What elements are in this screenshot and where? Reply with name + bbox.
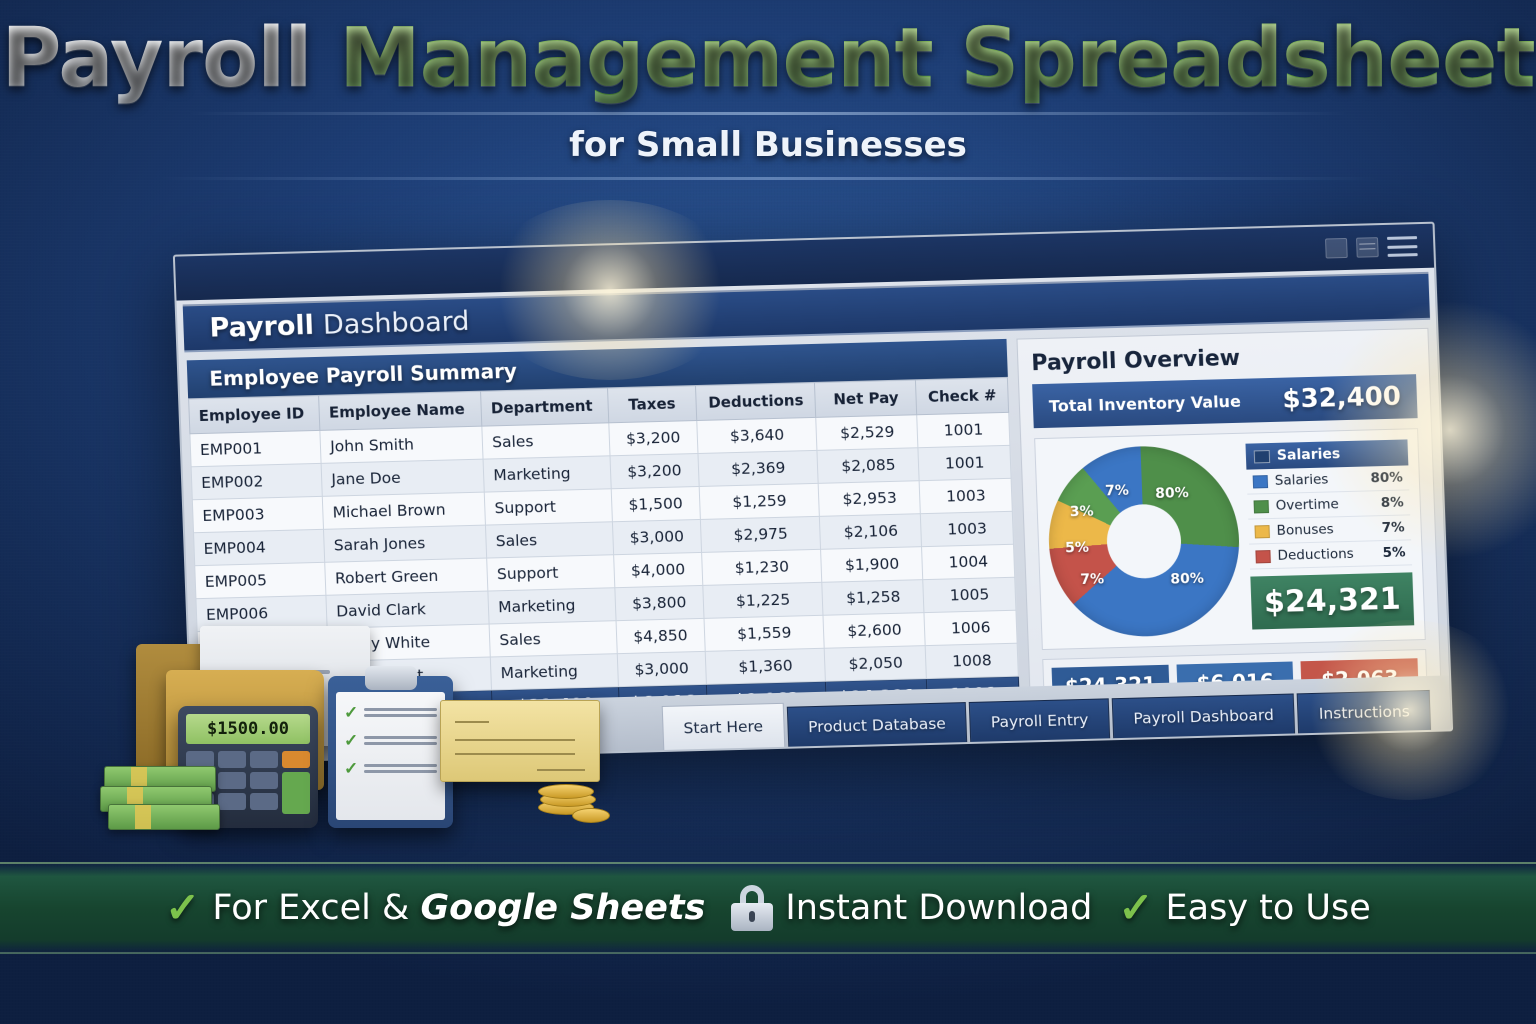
slice-label-3: 5% (1065, 540, 1089, 557)
column-header-0[interactable]: Employee ID (189, 395, 320, 433)
cell-r3-c5[interactable]: $2,106 (820, 514, 922, 550)
cell-r2-c3[interactable]: $1,500 (611, 486, 701, 521)
cell-r1-c6[interactable]: 1001 (918, 445, 1011, 480)
legend-row-deductions: Deductions5% (1249, 540, 1412, 569)
cell-r0-c4[interactable]: $3,640 (697, 417, 818, 453)
coin-stack (538, 770, 628, 826)
cell-r7-c6[interactable]: 1008 (926, 643, 1019, 678)
tab-product-database[interactable]: Product Database (786, 702, 967, 747)
cell-r0-c3[interactable]: $3,200 (608, 421, 698, 456)
page-header: Payroll Management Spreadsheet for Small… (0, 18, 1536, 180)
feature-2-text: Instant Download (785, 888, 1092, 928)
dashboard-title-light: Dashboard (322, 305, 470, 340)
cash-stack (100, 766, 230, 828)
cell-r6-c3[interactable]: $4,850 (616, 618, 706, 653)
dashboard-title-bold: Payroll (209, 310, 315, 344)
donut-graphic: 80% 80% 7% 5% 3% 7% (1046, 444, 1243, 639)
legend-swatch (1254, 500, 1269, 513)
tab-payroll-dashboard[interactable]: Payroll Dashboard (1112, 693, 1296, 738)
payroll-donut-chart: 80% 80% 7% 5% 3% 7% Salaries Salaries80%… (1034, 428, 1426, 650)
cell-r0-c0[interactable]: EMP001 (190, 430, 321, 466)
overview-title: Payroll Overview (1031, 341, 1416, 376)
total-inventory-value-kpi: Total Inventory Value $32,400 (1032, 374, 1418, 428)
cell-r4-c1[interactable]: Robert Green (325, 558, 488, 595)
cell-r0-c5[interactable]: $2,529 (816, 415, 918, 451)
cell-r4-c6[interactable]: 1004 (922, 544, 1015, 579)
legend-label: Bonuses (1276, 520, 1375, 539)
legend-label: Salaries (1275, 471, 1364, 489)
cell-r2-c5[interactable]: $2,953 (819, 481, 921, 517)
chart-legend: Salaries Salaries80%Overtime8%Bonuses7%D… (1245, 439, 1414, 633)
cell-r4-c5[interactable]: $1,900 (821, 547, 923, 583)
cell-r4-c4[interactable]: $1,230 (702, 549, 823, 585)
kpi-label: Total Inventory Value (1049, 391, 1242, 415)
feature-excel-google-sheets: ✓ For Excel & Google Sheets (165, 887, 705, 929)
cell-r4-c2[interactable]: Support (487, 555, 614, 591)
cell-r2-c1[interactable]: Michael Brown (322, 492, 485, 529)
cell-r4-c3[interactable]: $4,000 (613, 552, 703, 587)
cell-r3-c4[interactable]: $2,975 (700, 516, 821, 552)
legend-label: Overtime (1275, 495, 1374, 514)
cell-r2-c2[interactable]: Support (484, 489, 611, 525)
feature-banner: ✓ For Excel & Google Sheets Instant Down… (0, 862, 1536, 954)
subtitle-divider (158, 177, 1378, 180)
clipboard-checklist: ✓ ✓ ✓ (328, 676, 453, 828)
legend-header-label: Salaries (1277, 446, 1341, 464)
feature-1-prefix: For Excel & (212, 888, 420, 928)
office-supplies-illustration: $1500.00 ✓ ✓ ✓ (100, 618, 620, 848)
cell-r7-c5[interactable]: $2,050 (825, 646, 927, 682)
title-word-management-spreadsheet: Management Spreadsheet (339, 11, 1535, 106)
slice-label-0: 80% (1155, 485, 1189, 502)
clipboard-clamp (365, 666, 417, 690)
check-icon: ✓ (1118, 887, 1153, 929)
cell-r4-c0[interactable]: EMP005 (195, 562, 326, 598)
legend-percent: 80% (1370, 470, 1403, 487)
feature-instant-download: Instant Download (731, 885, 1092, 931)
cell-r7-c3[interactable]: $3,000 (617, 651, 707, 686)
cell-r2-c6[interactable]: 1003 (919, 478, 1012, 513)
cell-r5-c4[interactable]: $1,225 (703, 582, 824, 618)
feature-3-text: Easy to Use (1166, 888, 1371, 928)
check-icon: ✓ (344, 732, 358, 749)
cell-r0-c2[interactable]: Sales (482, 423, 609, 459)
cell-r3-c1[interactable]: Sarah Jones (324, 525, 487, 562)
cell-r1-c4[interactable]: $2,369 (698, 450, 819, 486)
column-header-5[interactable]: Net Pay (815, 380, 917, 418)
legend-percent: 8% (1381, 495, 1405, 512)
cell-r1-c0[interactable]: EMP002 (191, 463, 322, 499)
check-icon: ✓ (344, 760, 358, 777)
cell-r0-c1[interactable]: John Smith (320, 426, 483, 463)
cell-r5-c3[interactable]: $3,800 (614, 585, 704, 620)
legend-swatch (1254, 525, 1269, 538)
tab-start-here[interactable]: Start Here (662, 703, 785, 750)
cell-r1-c5[interactable]: $2,085 (817, 448, 919, 484)
legend-percent: 7% (1381, 520, 1405, 537)
cell-r6-c5[interactable]: $2,600 (823, 613, 925, 649)
feature-1-text: For Excel & Google Sheets (212, 888, 705, 928)
cell-r5-c6[interactable]: 1005 (923, 577, 1016, 612)
cell-r2-c0[interactable]: EMP003 (192, 496, 323, 532)
check-icon: ✓ (344, 704, 358, 721)
page-subtitle: for Small Businesses (0, 125, 1536, 165)
cell-r6-c6[interactable]: 1006 (924, 610, 1017, 645)
feature-1-bold: Google Sheets (420, 888, 705, 928)
legend-percent: 5% (1382, 545, 1406, 562)
slice-label-2: 7% (1080, 571, 1104, 588)
page-title: Payroll Management Spreadsheet (0, 18, 1536, 100)
cell-r1-c2[interactable]: Marketing (483, 456, 610, 492)
tab-instructions[interactable]: Instructions (1297, 690, 1431, 733)
chart-document-icon[interactable] (1325, 238, 1348, 259)
slice-label-5: 7% (1105, 483, 1129, 500)
cell-r6-c4[interactable]: $1,559 (704, 615, 825, 651)
slice-label-1: 80% (1170, 571, 1204, 588)
check-icon: ✓ (165, 887, 200, 929)
tab-payroll-entry[interactable]: Payroll Entry (969, 698, 1110, 742)
cell-r1-c1[interactable]: Jane Doe (321, 459, 484, 496)
payroll-overview-panel: Payroll Overview Total Inventory Value $… (1016, 328, 1442, 723)
cell-r3-c0[interactable]: EMP004 (194, 529, 325, 565)
cell-r3-c6[interactable]: 1003 (921, 511, 1014, 546)
window-panes-icon[interactable] (1356, 237, 1379, 258)
title-word-payroll: Payroll (1, 11, 311, 106)
cell-r5-c5[interactable]: $1,258 (822, 580, 924, 616)
column-header-1[interactable]: Employee Name (319, 391, 482, 430)
cell-r1-c3[interactable]: $3,200 (610, 453, 700, 488)
cell-r0-c6[interactable]: 1001 (917, 412, 1010, 447)
net-pay-highlight: $24,321 (1250, 572, 1414, 629)
cell-r7-c4[interactable]: $1,360 (705, 648, 826, 684)
column-header-6[interactable]: Check # (916, 377, 1009, 414)
calculator-display: $1500.00 (186, 714, 310, 744)
column-header-4[interactable]: Deductions (696, 382, 817, 420)
legend-header-swatch (1254, 450, 1270, 463)
cell-r2-c4[interactable]: $1,259 (699, 483, 820, 519)
hamburger-menu-icon[interactable] (1387, 236, 1418, 257)
legend-swatch (1255, 550, 1270, 563)
lock-icon (731, 885, 773, 931)
kpi-value: $32,400 (1282, 382, 1401, 415)
slice-label-4: 3% (1070, 504, 1094, 521)
title-divider (188, 112, 1348, 115)
feature-easy-to-use: ✓ Easy to Use (1118, 887, 1371, 929)
column-header-3[interactable]: Taxes (607, 386, 697, 423)
column-header-2[interactable]: Department (481, 388, 609, 426)
cell-r3-c3[interactable]: $3,000 (612, 519, 702, 554)
legend-swatch (1253, 475, 1268, 488)
cell-r3-c2[interactable]: Sales (486, 522, 613, 558)
legend-label: Deductions (1277, 545, 1376, 564)
